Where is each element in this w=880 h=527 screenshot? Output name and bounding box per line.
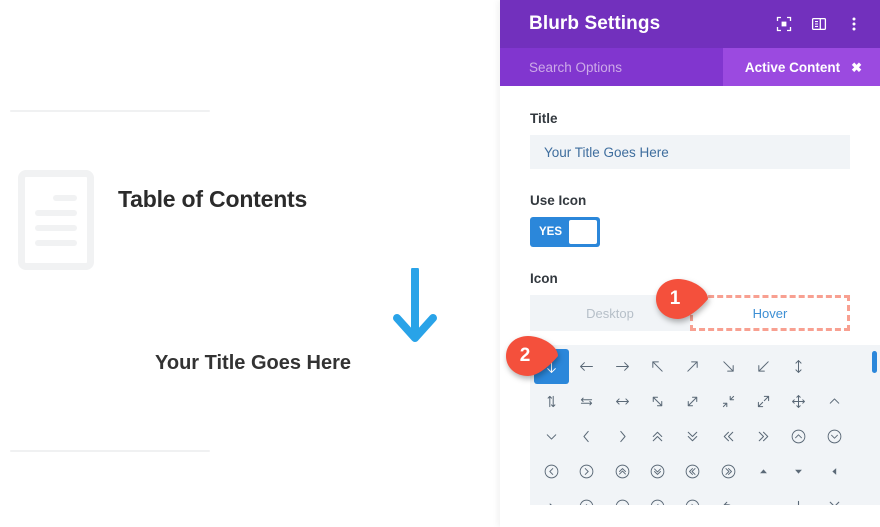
panel-header-actions bbox=[776, 16, 862, 32]
blurb-settings-panel: Blurb Settings bbox=[500, 0, 880, 527]
circle-triangle-down-icon[interactable] bbox=[605, 489, 640, 505]
icon-field-label: Icon bbox=[530, 271, 850, 286]
plus-icon[interactable] bbox=[781, 489, 816, 505]
use-icon-toggle-knob[interactable] bbox=[569, 220, 597, 244]
circle-triangle-up-icon[interactable] bbox=[569, 489, 604, 505]
active-content-filter-chip[interactable]: Active Content ✖ bbox=[723, 48, 880, 86]
close-icon[interactable]: ✖ bbox=[851, 61, 862, 74]
title-input[interactable]: Your Title Goes Here bbox=[530, 135, 850, 169]
arrow-down-icon[interactable] bbox=[534, 349, 569, 384]
arrow-up-down-icon[interactable] bbox=[781, 349, 816, 384]
tab-hover[interactable]: Hover bbox=[690, 295, 850, 331]
icon-grid-scrollbar[interactable] bbox=[872, 351, 877, 373]
circle-double-chevron-up-icon[interactable] bbox=[605, 454, 640, 489]
circle-double-chevron-right-icon[interactable] bbox=[711, 454, 746, 489]
arrow-down-left-icon[interactable] bbox=[746, 349, 781, 384]
minus-icon[interactable] bbox=[746, 489, 781, 505]
grid-row1-spacer bbox=[817, 349, 852, 384]
layout-panel-icon[interactable] bbox=[811, 16, 827, 32]
arrow-up-down-split-icon[interactable] bbox=[534, 384, 569, 419]
arrow-left-icon[interactable] bbox=[569, 349, 604, 384]
more-vertical-icon[interactable] bbox=[846, 16, 862, 32]
circle-double-chevron-left-icon[interactable] bbox=[675, 454, 710, 489]
search-input-placeholder[interactable]: Search Options bbox=[529, 60, 622, 75]
blurb-heading: Table of Contents bbox=[118, 186, 307, 213]
blurb-module-preview[interactable]: Table of Contents bbox=[18, 170, 307, 270]
preview-divider-top bbox=[10, 110, 210, 112]
arrows-expand-ne-icon[interactable] bbox=[746, 384, 781, 419]
triangle-left-icon[interactable] bbox=[817, 454, 852, 489]
icon-picker-grid bbox=[530, 345, 866, 505]
arrow-left-right-icon[interactable] bbox=[605, 384, 640, 419]
circle-chevron-down-icon[interactable] bbox=[817, 419, 852, 454]
triangle-right-icon[interactable] bbox=[534, 489, 569, 505]
close-x-icon[interactable] bbox=[817, 489, 852, 505]
arrows-move-icon[interactable] bbox=[781, 384, 816, 419]
icon-state-tabs: Desktop Hover bbox=[530, 295, 850, 331]
use-icon-toggle-label: YES bbox=[533, 226, 569, 238]
chevron-left-icon[interactable] bbox=[569, 419, 604, 454]
chevron-up-icon[interactable] bbox=[817, 384, 852, 419]
preview-divider-bottom bbox=[10, 450, 210, 452]
circle-triangle-left-icon[interactable] bbox=[640, 489, 675, 505]
double-chevron-right-icon[interactable] bbox=[746, 419, 781, 454]
use-icon-toggle[interactable]: YES bbox=[530, 217, 600, 247]
arrows-left-right-curve-icon[interactable] bbox=[569, 384, 604, 419]
arrow-right-icon[interactable] bbox=[605, 349, 640, 384]
active-content-label: Active Content bbox=[745, 60, 840, 75]
title-input-value: Your Title Goes Here bbox=[544, 145, 669, 160]
arrow-diagonal-sw-ne-icon[interactable] bbox=[675, 384, 710, 419]
arrow-return-icon[interactable] bbox=[711, 489, 746, 505]
chevron-right-icon[interactable] bbox=[605, 419, 640, 454]
panel-header: Blurb Settings bbox=[500, 0, 880, 48]
title-field-label: Title bbox=[530, 111, 850, 126]
arrow-up-right-icon[interactable] bbox=[675, 349, 710, 384]
panel-title: Blurb Settings bbox=[529, 13, 776, 35]
search-options-bar[interactable]: Search Options Active Content ✖ bbox=[500, 48, 880, 86]
fullscreen-icon[interactable] bbox=[776, 16, 792, 32]
double-chevron-left-icon[interactable] bbox=[711, 419, 746, 454]
blurb-preview-title: Your Title Goes Here bbox=[155, 352, 351, 375]
icon-picker-grid-container bbox=[530, 345, 880, 505]
screenshot-root: Table of Contents Your Title Goes Here B… bbox=[0, 0, 880, 527]
arrow-down-right-icon[interactable] bbox=[711, 349, 746, 384]
circle-chevron-up-icon[interactable] bbox=[781, 419, 816, 454]
double-chevron-up-icon[interactable] bbox=[640, 419, 675, 454]
tab-desktop[interactable]: Desktop bbox=[530, 295, 690, 331]
circle-chevron-left-icon[interactable] bbox=[534, 454, 569, 489]
arrow-down-icon bbox=[392, 268, 438, 353]
arrow-diagonal-nw-se-icon[interactable] bbox=[640, 384, 675, 419]
triangle-down-icon[interactable] bbox=[781, 454, 816, 489]
arrow-up-left-icon[interactable] bbox=[640, 349, 675, 384]
arrows-contract-nw-icon[interactable] bbox=[711, 384, 746, 419]
panel-body: Title Your Title Goes Here Use Icon YES … bbox=[500, 86, 880, 527]
circle-chevron-right-icon[interactable] bbox=[569, 454, 604, 489]
circle-triangle-right-icon[interactable] bbox=[675, 489, 710, 505]
page-preview-area: Table of Contents Your Title Goes Here bbox=[0, 0, 500, 527]
circle-double-chevron-down-icon[interactable] bbox=[640, 454, 675, 489]
chevron-down-icon[interactable] bbox=[534, 419, 569, 454]
use-icon-field-label: Use Icon bbox=[530, 193, 850, 208]
double-chevron-down-icon[interactable] bbox=[675, 419, 710, 454]
document-lines-icon bbox=[18, 170, 94, 270]
triangle-up-icon[interactable] bbox=[746, 454, 781, 489]
